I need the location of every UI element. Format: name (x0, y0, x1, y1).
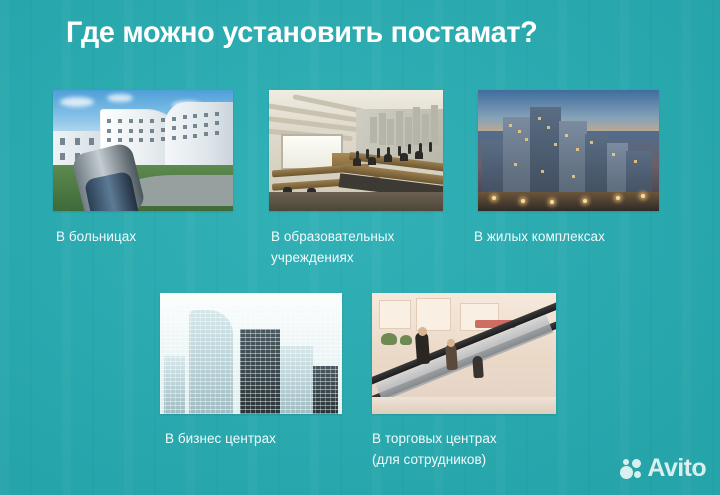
caption-residential: В жилых комплексах (474, 226, 684, 247)
caption-malls: В торговых центрах (для сотрудников) (372, 428, 572, 470)
hospital-illustration (53, 90, 233, 211)
avito-brand-label: Avito (647, 456, 706, 481)
mall-escalator-illustration (372, 293, 556, 414)
photo-education (269, 90, 443, 211)
photo-hospitals (53, 90, 233, 211)
photo-malls (372, 293, 556, 414)
lecture-hall-illustration (269, 90, 443, 211)
photo-residential (478, 90, 659, 211)
caption-education: В образовательных учреждениях (271, 226, 461, 268)
avito-dots-icon (620, 458, 642, 480)
photo-business (160, 293, 342, 414)
residential-complex-illustration (478, 90, 659, 211)
avito-watermark: Avito (620, 456, 706, 481)
caption-business: В бизнес центрах (165, 428, 365, 449)
page-title: Где можно установить постамат? (66, 15, 537, 51)
business-district-illustration (160, 293, 342, 414)
caption-hospitals: В больницах (56, 226, 256, 247)
slide-root: Где можно установить постамат? (0, 0, 720, 495)
